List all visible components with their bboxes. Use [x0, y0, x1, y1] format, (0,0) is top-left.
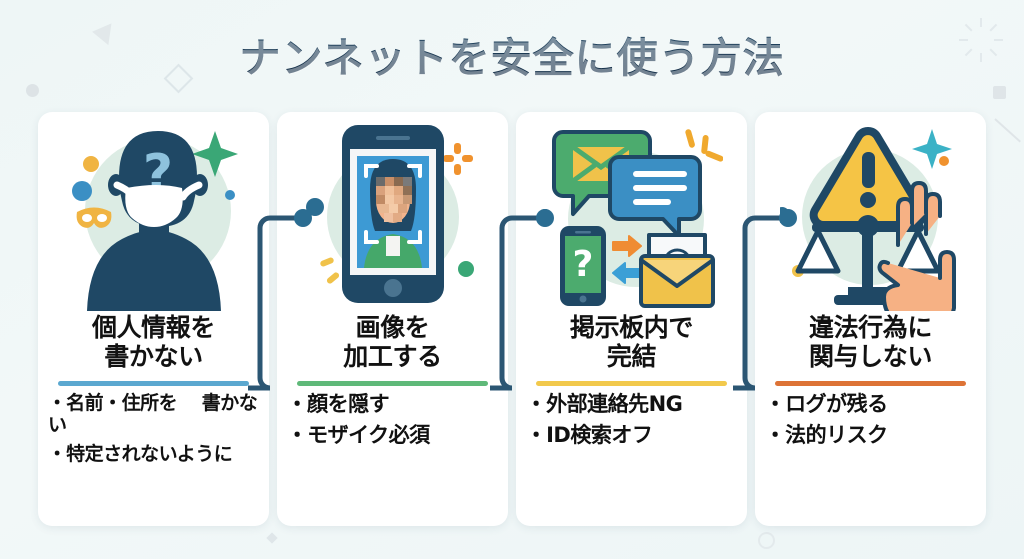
card-accent-rule	[536, 381, 728, 386]
card-bullets: ・外部連絡先NG ・ID検索オフ	[516, 392, 747, 527]
card-title: 画像を 加工する	[337, 313, 447, 372]
card-bullets: ・名前・住所を 書かない ・特定されないように	[38, 392, 269, 527]
bullet-item: ・顔を隠す	[287, 392, 498, 416]
bullet-item: ・モザイク必須	[287, 423, 498, 447]
circle-outline-deco	[758, 532, 775, 549]
card-board-only[interactable]: ? @ 掲示板内で 完結 ・外部連絡先NG ・ID検索オフ	[516, 112, 747, 526]
svg-text:?: ?	[572, 244, 593, 285]
card-title: 違法行為に 関与しない	[803, 313, 938, 372]
chat-mail-icon: ? @	[516, 112, 747, 317]
card-accent-rule	[297, 381, 489, 386]
warning-scales-hand-icon	[755, 112, 986, 317]
bullet-item: ・名前・住所を 書かない	[48, 392, 259, 436]
bullet-item: ・ログが残る	[765, 392, 976, 416]
dot-deco	[26, 84, 39, 97]
card-title: 個人情報を 書かない	[86, 313, 221, 372]
bullet-item: ・外部連絡先NG	[526, 392, 737, 416]
card-accent-rule	[58, 381, 250, 386]
page-title: ナンネットを安全に使う方法	[0, 24, 1024, 84]
card-bullets: ・ログが残る ・法的リスク	[755, 392, 986, 527]
anonymous-person-icon: ?	[38, 112, 269, 317]
bullet-item: ・特定されないように	[48, 443, 259, 465]
square-deco	[993, 86, 1006, 99]
card-title: 掲示板内で 完結	[564, 313, 699, 372]
bullet-item: ・ID検索オフ	[526, 423, 737, 447]
card-no-illegal[interactable]: 違法行為に 関与しない ・ログが残る ・法的リスク	[755, 112, 986, 526]
diamond-deco-2	[266, 532, 277, 543]
card-accent-rule	[775, 381, 967, 386]
mosaic-phone-icon	[277, 112, 508, 317]
card-image-edit[interactable]: 画像を 加工する ・顔を隠す ・モザイク必須	[277, 112, 508, 526]
card-bullets: ・顔を隠す ・モザイク必須	[277, 392, 508, 527]
line-deco	[994, 118, 1021, 142]
card-personal-info[interactable]: ? 個人情報を 書かない ・名前・住所を 書かない ・特定されないように	[38, 112, 269, 526]
bullet-item: ・法的リスク	[765, 423, 976, 447]
cards-row: ? 個人情報を 書かない ・名前・住所を 書かない ・特定されないように	[38, 112, 986, 526]
